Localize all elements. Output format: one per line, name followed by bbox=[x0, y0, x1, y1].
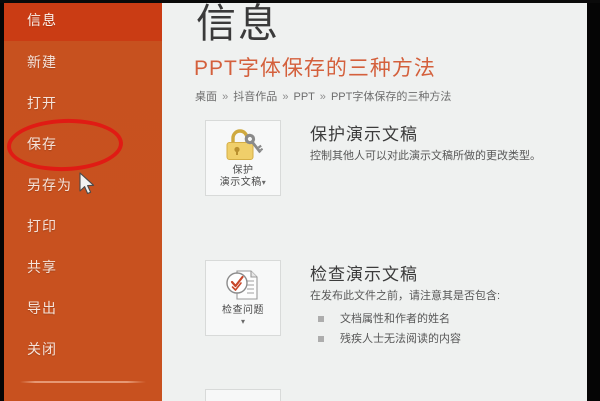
document-name: PPT字体保存的三种方法 bbox=[194, 52, 436, 82]
list-item: 残疾人士无法阅读的内容 bbox=[310, 329, 582, 349]
breadcrumb-separator: » bbox=[220, 91, 230, 103]
breadcrumb-item-1[interactable]: 抖音作品 bbox=[233, 91, 277, 103]
sidebar-item-export[interactable]: 导出 bbox=[4, 288, 162, 329]
breadcrumb-item-2[interactable]: PPT bbox=[294, 91, 315, 103]
sidebar-item-print[interactable]: 打印 bbox=[4, 206, 162, 247]
check-for-issues-button[interactable]: 检查问题 ▾ bbox=[205, 260, 281, 336]
page-title: 信息 bbox=[196, 0, 280, 49]
inspect-presentation-description-block: 检查演示文稿 在发布此文件之前，请注意其是否包含: 文档属性和作者的姓名 残疾人… bbox=[310, 260, 582, 349]
lock-key-icon bbox=[206, 125, 280, 165]
manage-presentation-button[interactable] bbox=[205, 389, 281, 401]
check-for-issues-label: 检查问题 bbox=[206, 305, 280, 317]
letterbox-bar-right bbox=[587, 0, 600, 401]
protect-presentation-heading: 保护演示文稿 bbox=[310, 120, 582, 145]
protect-presentation-label-line1: 保护 bbox=[206, 165, 280, 177]
chevron-down-icon[interactable]: ▾ bbox=[206, 317, 280, 326]
breadcrumb-separator: » bbox=[280, 91, 290, 103]
breadcrumb-item-3[interactable]: PPT字体保存的三种方法 bbox=[331, 91, 451, 103]
sidebar-item-open[interactable]: 打开 bbox=[4, 83, 162, 124]
protect-presentation-description: 控制其他人可以对此演示文稿所做的更改类型。 bbox=[310, 148, 558, 165]
inspect-presentation-heading: 检查演示文稿 bbox=[310, 260, 582, 285]
sidebar-item-share[interactable]: 共享 bbox=[4, 247, 162, 288]
inspect-presentation-description: 在发布此文件之前，请注意其是否包含: bbox=[310, 288, 558, 305]
letterbox-bar-top bbox=[0, 0, 600, 3]
protect-label-text: 演示文稿 bbox=[220, 177, 262, 188]
breadcrumb-separator: » bbox=[318, 91, 328, 103]
protect-presentation-description-block: 保护演示文稿 控制其他人可以对此演示文稿所做的更改类型。 bbox=[310, 120, 582, 165]
sidebar-item-close[interactable]: 关闭 bbox=[4, 329, 162, 370]
chevron-down-icon[interactable]: ▾ bbox=[262, 178, 267, 187]
breadcrumb-item-0[interactable]: 桌面 bbox=[195, 91, 217, 103]
backstage-content-pane: 信息 PPT字体保存的三种方法 桌面 » 抖音作品 » PPT » PPT字体保… bbox=[162, 0, 587, 401]
letterbox-bar-left bbox=[0, 0, 4, 401]
mouse-pointer-icon bbox=[79, 172, 96, 201]
protect-presentation-button[interactable]: 保护 演示文稿▾ bbox=[205, 120, 281, 196]
screen-root: 信息 新建 打开 保存 另存为 打印 共享 导出 关闭 信息 PPT字体保存的三… bbox=[0, 0, 600, 401]
inspect-presentation-bullet-list: 文档属性和作者的姓名 残疾人士无法阅读的内容 bbox=[310, 309, 582, 349]
list-item: 文档属性和作者的姓名 bbox=[310, 309, 582, 329]
sidebar-divider bbox=[20, 381, 146, 383]
document-check-icon bbox=[206, 265, 280, 305]
sidebar-item-new[interactable]: 新建 bbox=[4, 42, 162, 83]
sidebar-item-info[interactable]: 信息 bbox=[4, 0, 162, 41]
breadcrumb: 桌面 » 抖音作品 » PPT » PPT字体保存的三种方法 bbox=[195, 88, 451, 104]
protect-presentation-label-line2: 演示文稿▾ bbox=[206, 177, 280, 189]
